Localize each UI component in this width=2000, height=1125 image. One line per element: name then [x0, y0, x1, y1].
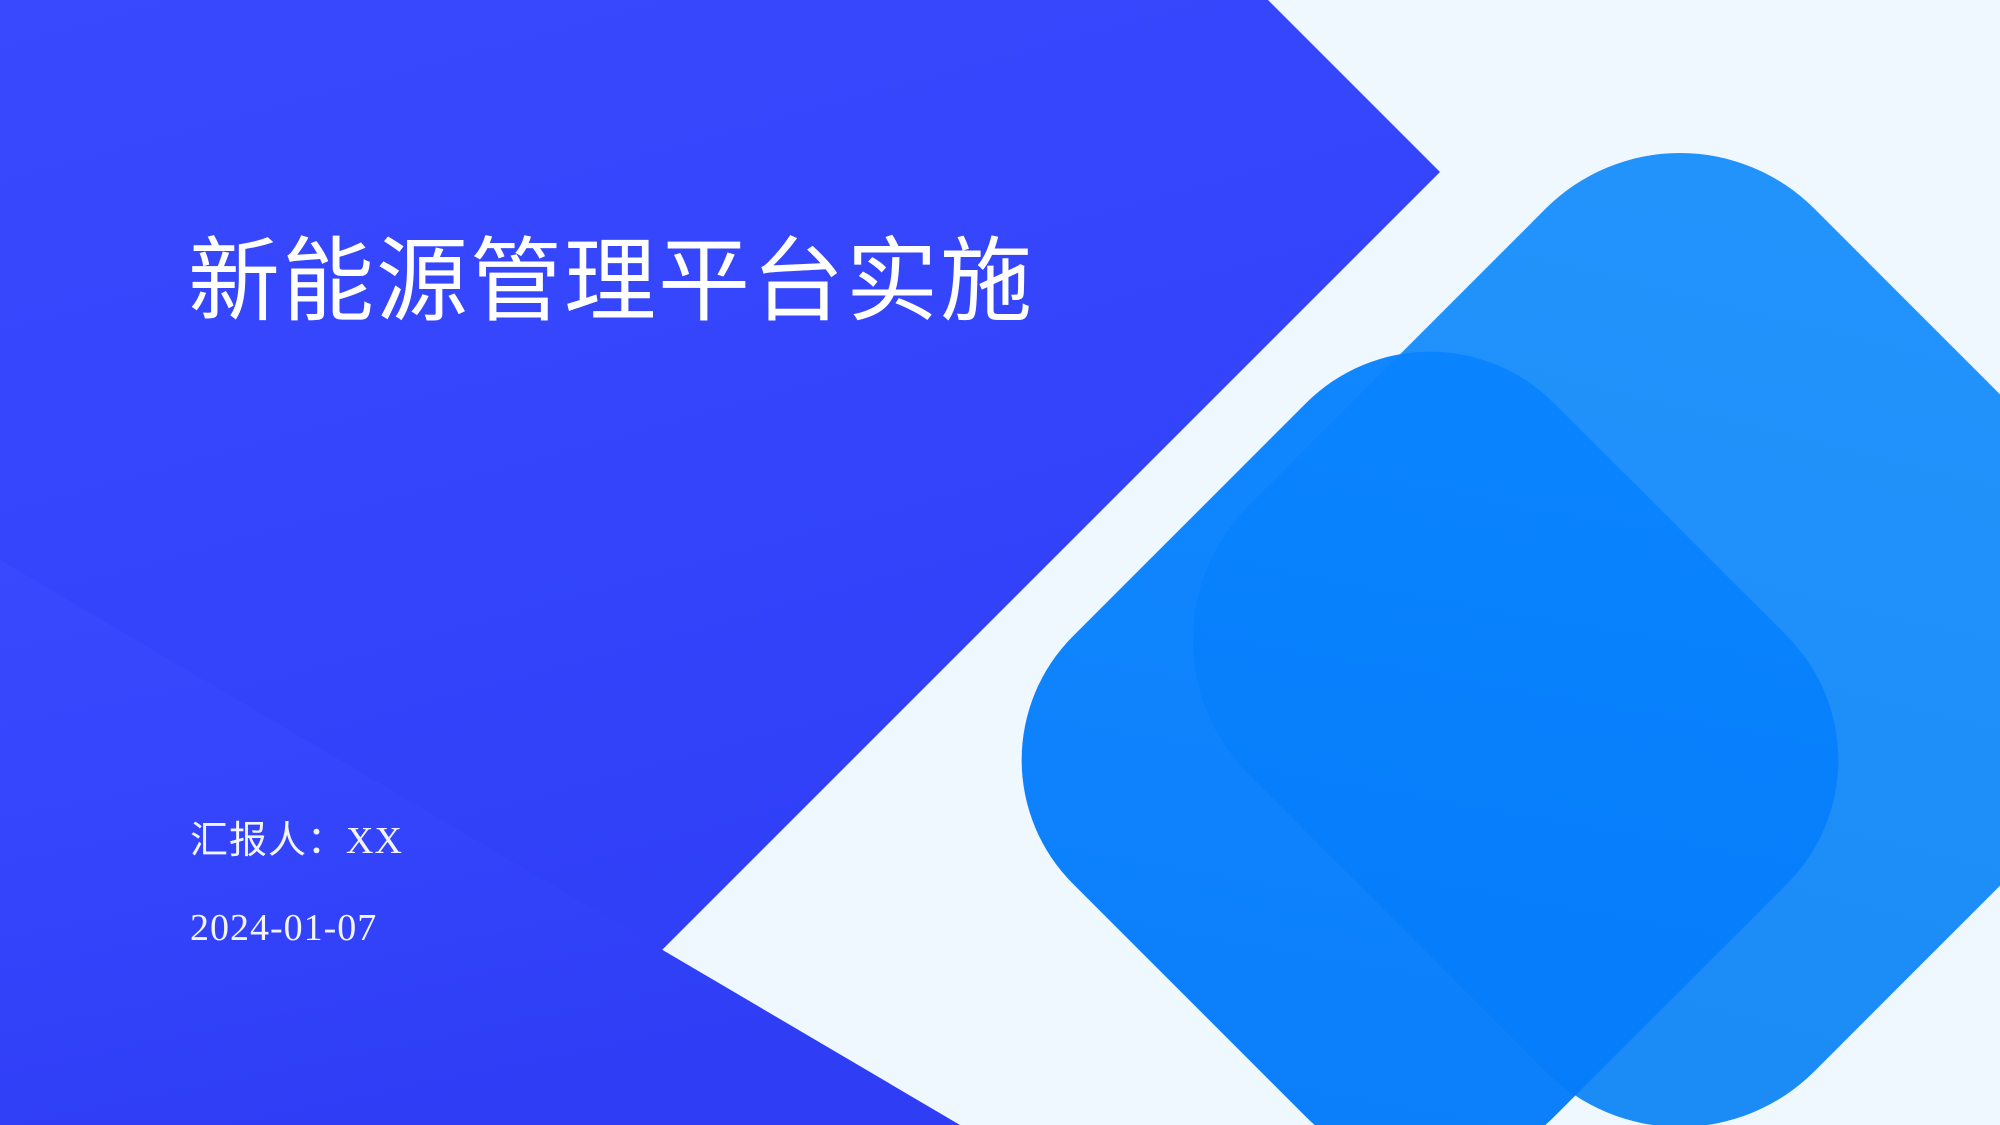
title-slide: 新能源管理平台实施 汇报人：XX 2024-01-07 [0, 0, 2000, 1125]
slide-meta-block: 汇报人：XX 2024-01-07 [190, 822, 890, 947]
slide-content: 新能源管理平台实施 汇报人：XX 2024-01-07 [0, 0, 2000, 1125]
presenter-label: 汇报人：XX [190, 822, 890, 860]
date-label: 2024-01-07 [190, 909, 890, 947]
page-title: 新能源管理平台实施 [188, 228, 1288, 337]
